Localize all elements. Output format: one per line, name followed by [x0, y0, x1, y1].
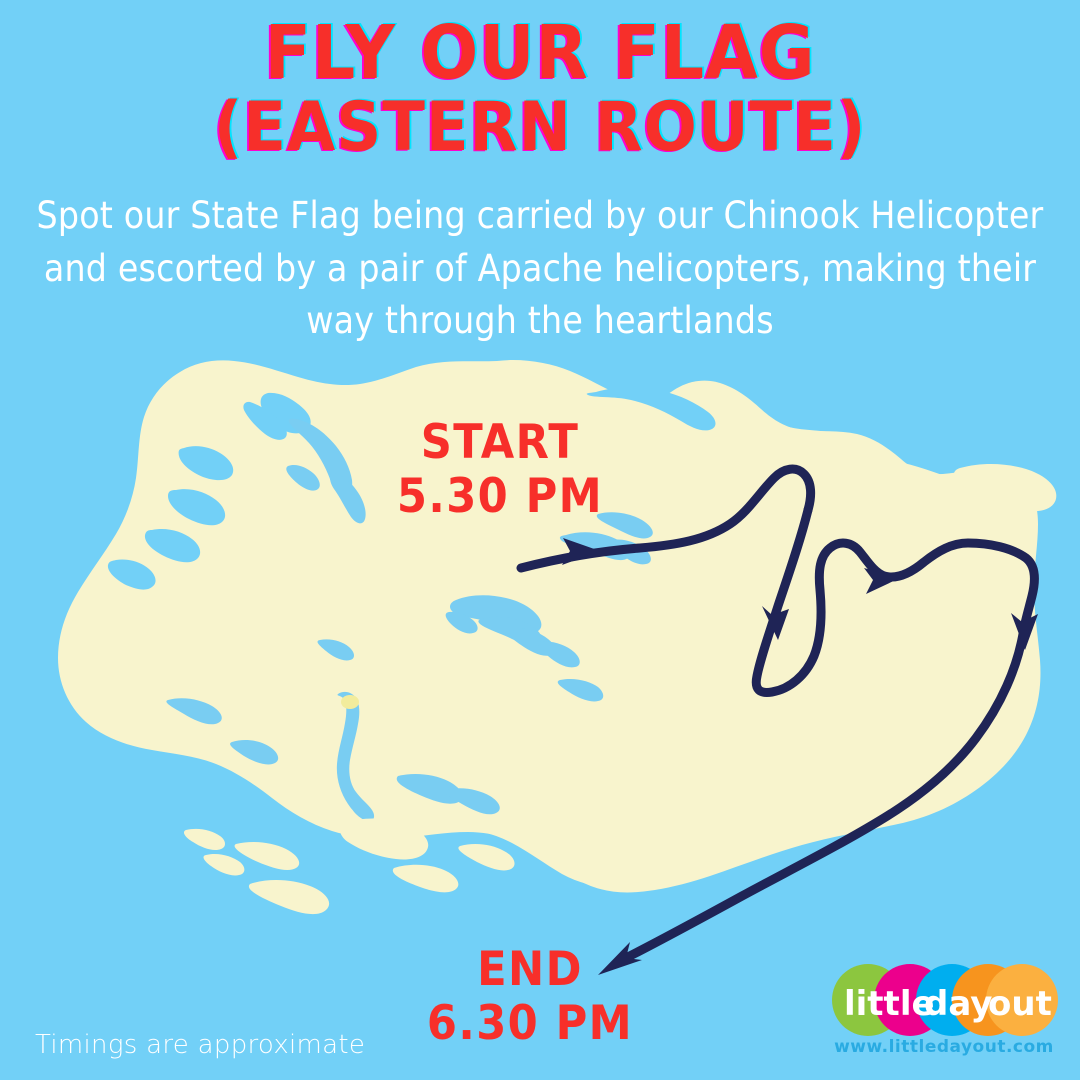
singapore-map	[0, 0, 1080, 1080]
poster-root: FLY OUR FLAG (EASTERN ROUTE) Spot our St…	[0, 0, 1080, 1080]
little-day-out-logo[interactable]: little day out www.littledayout.com	[828, 958, 1060, 1066]
logo-url: www.littledayout.com	[834, 1037, 1054, 1057]
logo-word-day: day	[924, 984, 992, 1024]
logo-word-out: out	[988, 984, 1052, 1024]
logo-word-little: little	[844, 984, 935, 1024]
logo-wordmark: little day out	[844, 984, 1052, 1024]
timings-disclaimer: Timings are approximate	[35, 1030, 365, 1060]
